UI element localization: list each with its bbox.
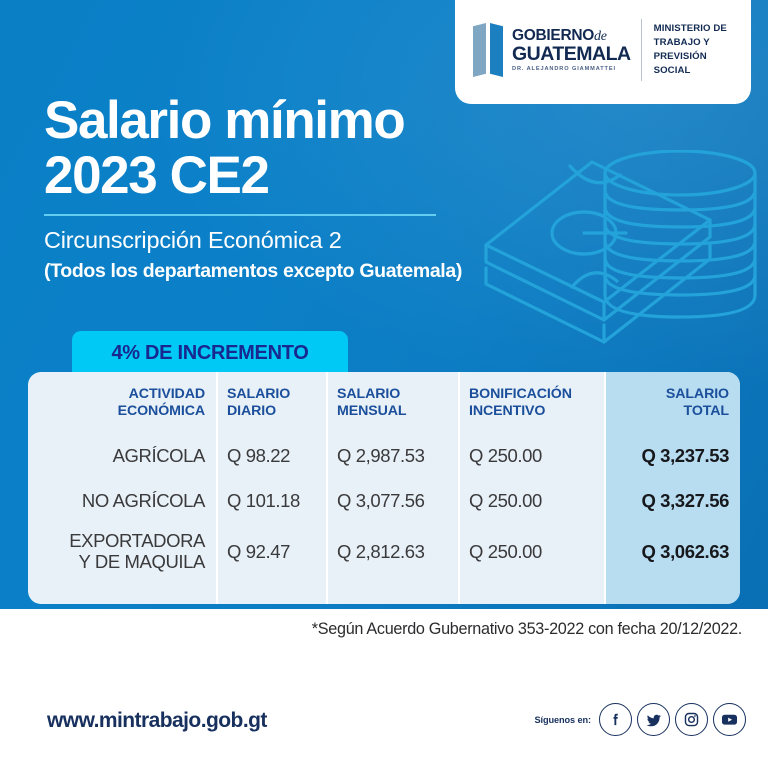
cell-bonificacion-1: Q 250.00 — [469, 491, 542, 512]
cell-salario-diario-2: Q 92.47 — [227, 542, 290, 563]
table-row: Q 2,987.53 — [326, 434, 458, 479]
table-row: Q 250.00 — [458, 524, 604, 580]
header-text-line-1: SALARIO — [337, 386, 406, 403]
cell-salario-mensual-1: Q 3,077.56 — [337, 491, 425, 512]
table-row: NO AGRÍCOLA — [28, 479, 216, 524]
header-text-line-1: BONIFICACIÓN — [469, 386, 572, 403]
column-header-salario-mensual: SALARIO MENSUAL — [326, 372, 458, 434]
ministry-line-1: MINISTERIO DE — [654, 22, 737, 36]
header-text-line-1: SALARIO — [227, 386, 290, 403]
page-title-line-1: Salario mínimo — [44, 93, 474, 148]
cell-actividad-2-line-2: Y DE MAQUILA — [69, 552, 205, 573]
logo-guatemala-text: GUATEMALA — [512, 45, 631, 65]
government-logo-panel: GOBIERNOde GUATEMALA DR. ALEJANDRO GIAMM… — [455, 0, 751, 104]
cell-salario-total-0: Q 3,237.53 — [641, 446, 729, 467]
table-row: Q 3,237.53 — [604, 434, 740, 479]
header-text-line-2: INCENTIVO — [469, 403, 572, 420]
legal-footnote: *Según Acuerdo Gubernativo 353-2022 con … — [0, 620, 742, 639]
ministry-line-2: TRABAJO Y — [654, 36, 737, 50]
logo-de-text: de — [594, 29, 607, 44]
cell-actividad-2-line-1: EXPORTADORA — [69, 531, 205, 552]
hero-note: (Todos los departamentos excepto Guatema… — [44, 259, 474, 284]
ministry-name: MINISTERIO DE TRABAJO Y PREVISIÓN SOCIAL — [654, 22, 737, 78]
instagram-icon[interactable] — [675, 703, 708, 736]
salary-table: ACTIVIDAD ECONÓMICA AGRÍCOLA NO AGRÍCOLA… — [28, 372, 740, 604]
cell-salario-mensual-2: Q 2,812.63 — [337, 542, 425, 563]
header-text-line-2: ECONÓMICA — [118, 403, 205, 420]
table-row: Q 92.47 — [216, 524, 326, 580]
table-row: AGRÍCOLA — [28, 434, 216, 479]
table-row: Q 98.22 — [216, 434, 326, 479]
column-header-actividad-economica: ACTIVIDAD ECONÓMICA — [28, 372, 216, 434]
table-row: Q 250.00 — [458, 434, 604, 479]
cell-salario-diario-1: Q 101.18 — [227, 491, 300, 512]
column-header-salario-diario: SALARIO DIARIO — [216, 372, 326, 434]
table-column-salario-mensual: SALARIO MENSUAL Q 2,987.53 Q 3,077.56 Q … — [326, 372, 458, 604]
facebook-icon[interactable] — [599, 703, 632, 736]
logo-wordmark: GOBIERNOde GUATEMALA DR. ALEJANDRO GIAMM… — [512, 28, 631, 72]
follow-us-label: Síguenos en: — [535, 715, 591, 725]
cell-bonificacion-2: Q 250.00 — [469, 542, 542, 563]
table-row: Q 2,812.63 — [326, 524, 458, 580]
table-row: EXPORTADORA Y DE MAQUILA — [28, 524, 216, 580]
social-links: Síguenos en: — [535, 703, 746, 736]
twitter-icon[interactable] — [637, 703, 670, 736]
cell-salario-diario-0: Q 98.22 — [227, 446, 290, 467]
poster-canvas: GOBIERNOde GUATEMALA DR. ALEJANDRO GIAMM… — [0, 0, 768, 768]
header-text-line-1: SALARIO — [666, 386, 729, 403]
column-header-bonificacion-incentivo: BONIFICACIÓN INCENTIVO — [458, 372, 604, 434]
column-header-salario-total: SALARIO TOTAL — [604, 372, 740, 434]
table-row: Q 250.00 — [458, 479, 604, 524]
table-row: Q 3,062.63 — [604, 524, 740, 580]
table-column-salario-total: SALARIO TOTAL Q 3,237.53 Q 3,327.56 Q 3,… — [604, 372, 740, 604]
cell-salario-mensual-0: Q 2,987.53 — [337, 446, 425, 467]
cell-actividad-0: AGRÍCOLA — [113, 446, 205, 467]
header-text-line-2: TOTAL — [666, 403, 729, 420]
header-text-line-2: DIARIO — [227, 403, 290, 420]
logo-president-text: DR. ALEJANDRO GIAMMATTEI — [512, 66, 631, 72]
table-column-salario-diario: SALARIO DIARIO Q 98.22 Q 101.18 Q 92.47 — [216, 372, 326, 604]
table-column-bonificacion-incentivo: BONIFICACIÓN INCENTIVO Q 250.00 Q 250.00… — [458, 372, 604, 604]
table-column-actividad-economica: ACTIVIDAD ECONÓMICA AGRÍCOLA NO AGRÍCOLA… — [28, 372, 216, 604]
website-url[interactable]: www.mintrabajo.gob.gt — [47, 709, 267, 733]
title-divider-rule — [44, 214, 436, 216]
logo-gobierno-text: GOBIERNO — [512, 27, 594, 44]
logo-divider — [641, 19, 642, 81]
hero-subtitle: Circunscripción Económica 2 — [44, 226, 474, 255]
table-row: Q 3,077.56 — [326, 479, 458, 524]
ministry-line-3: PREVISIÓN SOCIAL — [654, 50, 737, 78]
table-row: Q 3,327.56 — [604, 479, 740, 524]
increment-badge: 4% DE INCREMENTO — [72, 331, 348, 375]
page-title-line-2: 2023 CE2 — [44, 148, 474, 203]
increment-badge-label: 4% DE INCREMENTO — [111, 342, 308, 365]
hero-headline: Salario mínimo 2023 CE2 Circunscripción … — [44, 93, 474, 284]
table-row: Q 101.18 — [216, 479, 326, 524]
youtube-icon[interactable] — [713, 703, 746, 736]
header-text-line-2: MENSUAL — [337, 403, 406, 420]
cell-bonificacion-0: Q 250.00 — [469, 446, 542, 467]
guatemala-flag-bars-icon — [473, 23, 503, 77]
header-text-line-1: ACTIVIDAD — [118, 386, 205, 403]
cell-salario-total-2: Q 3,062.63 — [641, 542, 729, 563]
cell-actividad-1: NO AGRÍCOLA — [82, 491, 205, 512]
cell-salario-total-1: Q 3,327.56 — [641, 491, 729, 512]
